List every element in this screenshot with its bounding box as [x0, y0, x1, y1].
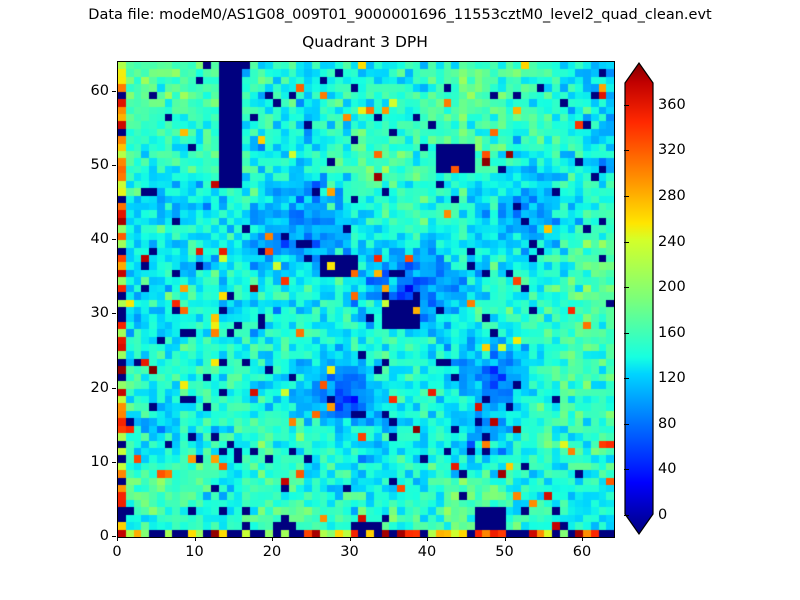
- y-tick-mark: [112, 91, 116, 92]
- x-tick-mark: [272, 537, 273, 541]
- y-tick-label: 30: [65, 305, 109, 321]
- figure-canvas: Data file: modeM0/AS1G08_009T01_90000016…: [0, 0, 800, 600]
- colorbar-tick-mark: [624, 378, 629, 379]
- y-tick-label: 10: [65, 454, 109, 470]
- colorbar-tick-label: 40: [658, 461, 676, 477]
- y-tick-mark: [112, 239, 116, 240]
- x-tick-label: 60: [573, 544, 591, 560]
- colorbar-tick-label: 360: [658, 97, 686, 113]
- colorbar-gradient: [624, 61, 654, 536]
- colorbar-tick-mark: [624, 196, 629, 197]
- y-tick-label: 50: [65, 157, 109, 173]
- x-tick-label: 40: [418, 544, 436, 560]
- y-tick-label: 0: [65, 528, 109, 544]
- y-tick-mark: [112, 536, 116, 537]
- axes-title: Quadrant 3 DPH: [117, 33, 613, 51]
- colorbar-tick-mark: [624, 150, 629, 151]
- x-tick-label: 50: [495, 544, 513, 560]
- y-tick-mark: [112, 388, 116, 389]
- colorbar-tick-mark: [624, 469, 629, 470]
- x-tick-mark: [582, 537, 583, 541]
- x-tick-mark: [195, 537, 196, 541]
- heatmap-axes: [117, 61, 615, 538]
- colorbar-tick-label: 80: [658, 416, 676, 432]
- y-tick-label: 60: [65, 83, 109, 99]
- y-tick-mark: [112, 165, 116, 166]
- colorbar-tick-mark: [624, 287, 629, 288]
- colorbar-tick-mark: [624, 424, 629, 425]
- y-tick-mark: [112, 462, 116, 463]
- colorbar-tick-label: 320: [658, 142, 686, 158]
- y-tick-label: 40: [65, 231, 109, 247]
- colorbar-tick-mark: [624, 242, 629, 243]
- colorbar-tick-label: 280: [658, 188, 686, 204]
- x-tick-label: 20: [263, 544, 281, 560]
- colorbar-tick-label: 120: [658, 370, 686, 386]
- x-tick-mark: [427, 537, 428, 541]
- x-tick-label: 0: [112, 544, 121, 560]
- colorbar-tick-label: 240: [658, 234, 686, 250]
- colorbar-tick-mark: [624, 515, 629, 516]
- x-tick-mark: [350, 537, 351, 541]
- heatmap-image: [118, 62, 614, 537]
- colorbar-tick-mark: [624, 105, 629, 106]
- y-tick-label: 20: [65, 380, 109, 396]
- x-tick-label: 10: [185, 544, 203, 560]
- colorbar-tick-label: 0: [658, 507, 667, 523]
- figure-suptitle: Data file: modeM0/AS1G08_009T01_90000016…: [0, 7, 800, 23]
- colorbar-tick-mark: [624, 333, 629, 334]
- x-tick-mark: [117, 537, 118, 541]
- colorbar-tick-label: 200: [658, 279, 686, 295]
- y-tick-mark: [112, 313, 116, 314]
- colorbar: [624, 61, 654, 536]
- x-tick-label: 30: [340, 544, 358, 560]
- colorbar-tick-label: 160: [658, 325, 686, 341]
- x-tick-mark: [505, 537, 506, 541]
